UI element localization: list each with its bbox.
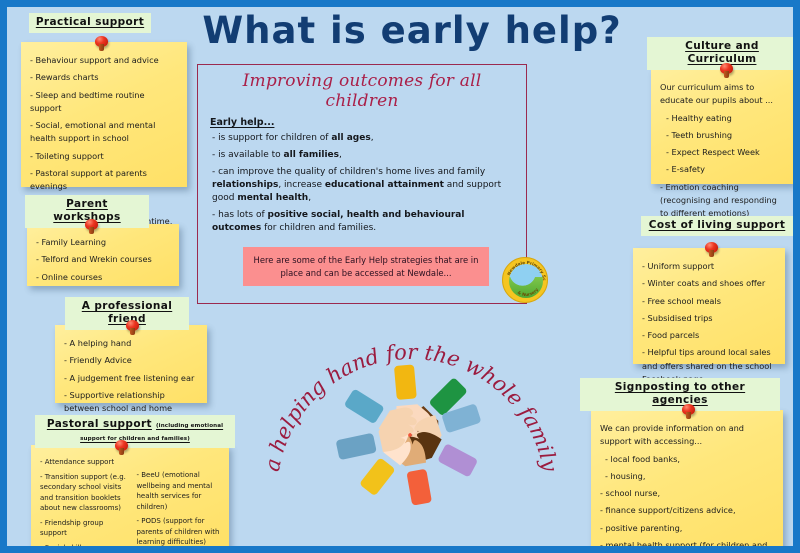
- list-item: - Emotion coaching (recognising and resp…: [660, 181, 784, 221]
- list-item: - A helping hand: [64, 337, 198, 350]
- header-parent-workshops: Parent workshops: [25, 195, 149, 228]
- list-item: - Social skills: [40, 543, 130, 553]
- list-item: - E-safety: [666, 163, 784, 176]
- note-parent-workshops: - Family Learning - Telford and Wrekin c…: [27, 224, 179, 286]
- list-item: - Winter coats and shoes offer: [642, 277, 776, 290]
- header-parent-workshops-label: Parent workshops: [53, 198, 120, 223]
- curved-caption: a helping hand for the whole family: [255, 303, 567, 553]
- list-item: - Social, emotional and mental health su…: [30, 119, 178, 146]
- list-item: - Teeth brushing: [666, 129, 784, 142]
- panel-subtitle: Early help...: [210, 117, 516, 128]
- list-item: - Behaviour support and advice: [30, 54, 178, 67]
- logo-ring-text: Newdale Primary School & Nursery: [503, 258, 547, 302]
- list-item: - Attendance support: [40, 457, 130, 468]
- list-item: - Sleep and bedtime routine support: [30, 89, 178, 116]
- list-item: - local food banks,: [605, 453, 774, 466]
- list-item: - Friendship group support: [40, 518, 130, 539]
- list-item: - Toileting support: [30, 150, 178, 163]
- list-item: - BeeU (emotional wellbeing and mental h…: [136, 470, 220, 512]
- note-professional-friend: - A helping hand - Friendly Advice - A j…: [55, 325, 207, 403]
- header-practical-support: Practical support: [29, 13, 151, 33]
- panel-line: - has lots of positive social, health an…: [212, 209, 516, 235]
- list-item: - Family Learning: [36, 236, 170, 249]
- note-practical-support: - Behaviour support and advice - Rewards…: [21, 42, 187, 187]
- callout-box: Here are some of the Early Help strategi…: [243, 247, 489, 286]
- list-item: - Pastoral support at parents evenings: [30, 167, 178, 194]
- list-item: - Expect Respect Week: [666, 146, 784, 159]
- list-item: - Healthy eating: [666, 112, 784, 125]
- list-item: - Friendly Advice: [64, 354, 198, 367]
- header-signposting: Signposting to other agencies: [580, 378, 780, 411]
- list-item: - Online courses: [36, 271, 170, 284]
- header-professional-friend-label: A professional friend: [82, 300, 172, 325]
- note-intro: Our curriculum aims to educate our pupil…: [660, 81, 784, 108]
- header-pastoral-support-label: Pastoral support: [47, 418, 152, 430]
- header-cost-of-living-label: Cost of living support: [649, 219, 786, 231]
- note-signposting: We can provide information on and suppor…: [591, 410, 783, 552]
- page-title: What is early help?: [182, 9, 642, 52]
- list-item: - Uniform support: [642, 260, 776, 273]
- panel-line: - can improve the quality of children's …: [212, 166, 516, 205]
- pastoral-right-column: - BeeU (emotional wellbeing and mental h…: [136, 457, 220, 542]
- svg-text:& Nursery: & Nursery: [517, 287, 540, 297]
- note-culture-curriculum: Our curriculum aims to educate our pupil…: [651, 69, 793, 184]
- note-pastoral-support: - Attendance support - Transition suppor…: [31, 445, 229, 550]
- list-item: - Free school meals: [642, 295, 776, 308]
- list-item: - Transition support (e.g. secondary sch…: [40, 472, 130, 514]
- list-item: - mental health support (for children an…: [600, 539, 774, 553]
- list-item: - housing,: [605, 470, 774, 483]
- list-item: - Supportive relationship between school…: [64, 389, 198, 416]
- note-intro: We can provide information on and suppor…: [600, 422, 774, 449]
- svg-text:Newdale Primary School: Newdale Primary School: [503, 258, 547, 281]
- list-item: - Food parcels: [642, 329, 776, 342]
- pastoral-left-column: - Attendance support - Transition suppor…: [40, 457, 130, 542]
- panel-title: Improving outcomes for all children: [208, 71, 516, 111]
- list-item: - finance support/citizens advice,: [600, 504, 774, 517]
- list-item: - A judgement free listening ear: [64, 372, 198, 385]
- note-cost-of-living: - Uniform support - Winter coats and sho…: [633, 248, 785, 364]
- header-culture-curriculum: Culture and Curriculum: [647, 37, 797, 70]
- header-pastoral-support: Pastoral support (including emotional su…: [35, 415, 235, 448]
- list-item: - Telford and Wrekin courses: [36, 253, 170, 266]
- header-practical-support-label: Practical support: [36, 16, 144, 28]
- curved-caption-text: a helping hand for the whole family: [260, 340, 563, 474]
- panel-line: - is available to all families,: [212, 149, 516, 162]
- list-item: - Rewards charts: [30, 71, 178, 84]
- list-item: - school nurse,: [600, 487, 774, 500]
- list-item: - PODS (support for parents of children …: [136, 516, 220, 548]
- school-logo: Newdale Primary School & Nursery: [502, 257, 548, 303]
- header-signposting-label: Signposting to other agencies: [615, 381, 745, 406]
- poster-canvas: What is early help? Practical support - …: [0, 0, 800, 553]
- header-culture-curriculum-label: Culture and Curriculum: [685, 40, 759, 65]
- list-item: - positive parenting,: [600, 522, 774, 535]
- list-item: - Subsidised trips: [642, 312, 776, 325]
- main-panel: Improving outcomes for all children Earl…: [197, 64, 527, 304]
- panel-line: - is support for children of all ages,: [212, 132, 516, 145]
- header-cost-of-living: Cost of living support: [641, 216, 793, 236]
- header-professional-friend: A professional friend: [65, 297, 189, 330]
